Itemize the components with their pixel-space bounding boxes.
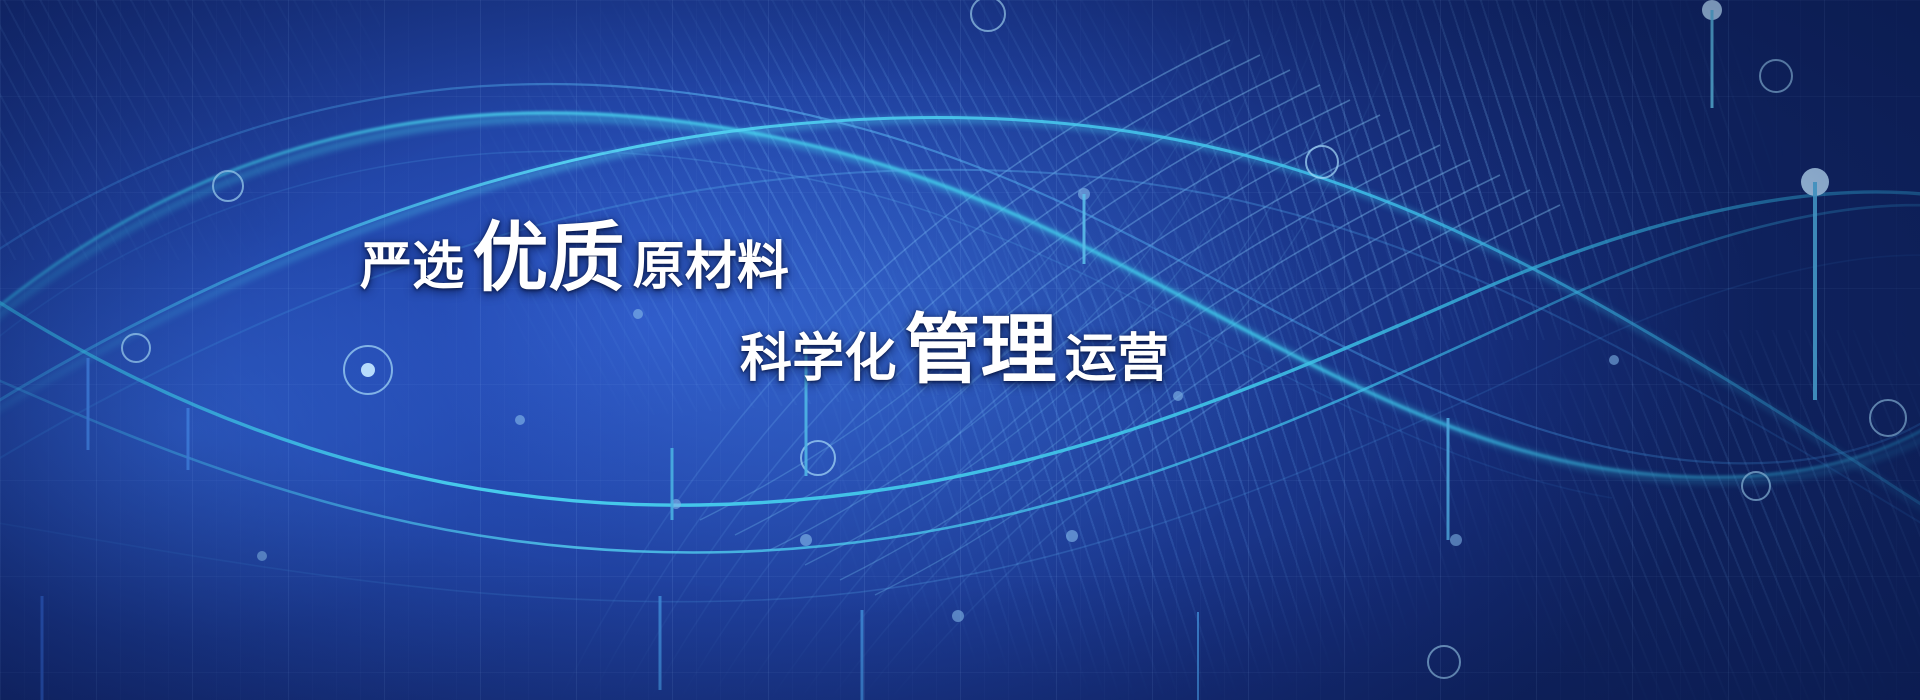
headline-line2-seg1: 科学化 [740,316,896,391]
headline-line2-seg2-emphasis: 管理 [904,288,1056,398]
headline-line2-seg3: 运营 [1065,316,1169,391]
headline-line-2: 科学化管理运营 [740,288,1169,398]
headline-line-1: 严选优质原材料 [360,196,789,306]
headline-line1-seg1: 严选 [360,224,464,299]
promo-banner: 严选优质原材料 科学化管理运营 [0,0,1920,700]
headline-block: 严选优质原材料 科学化管理运营 [0,0,1920,700]
headline-line1-seg2-emphasis: 优质 [472,196,624,306]
